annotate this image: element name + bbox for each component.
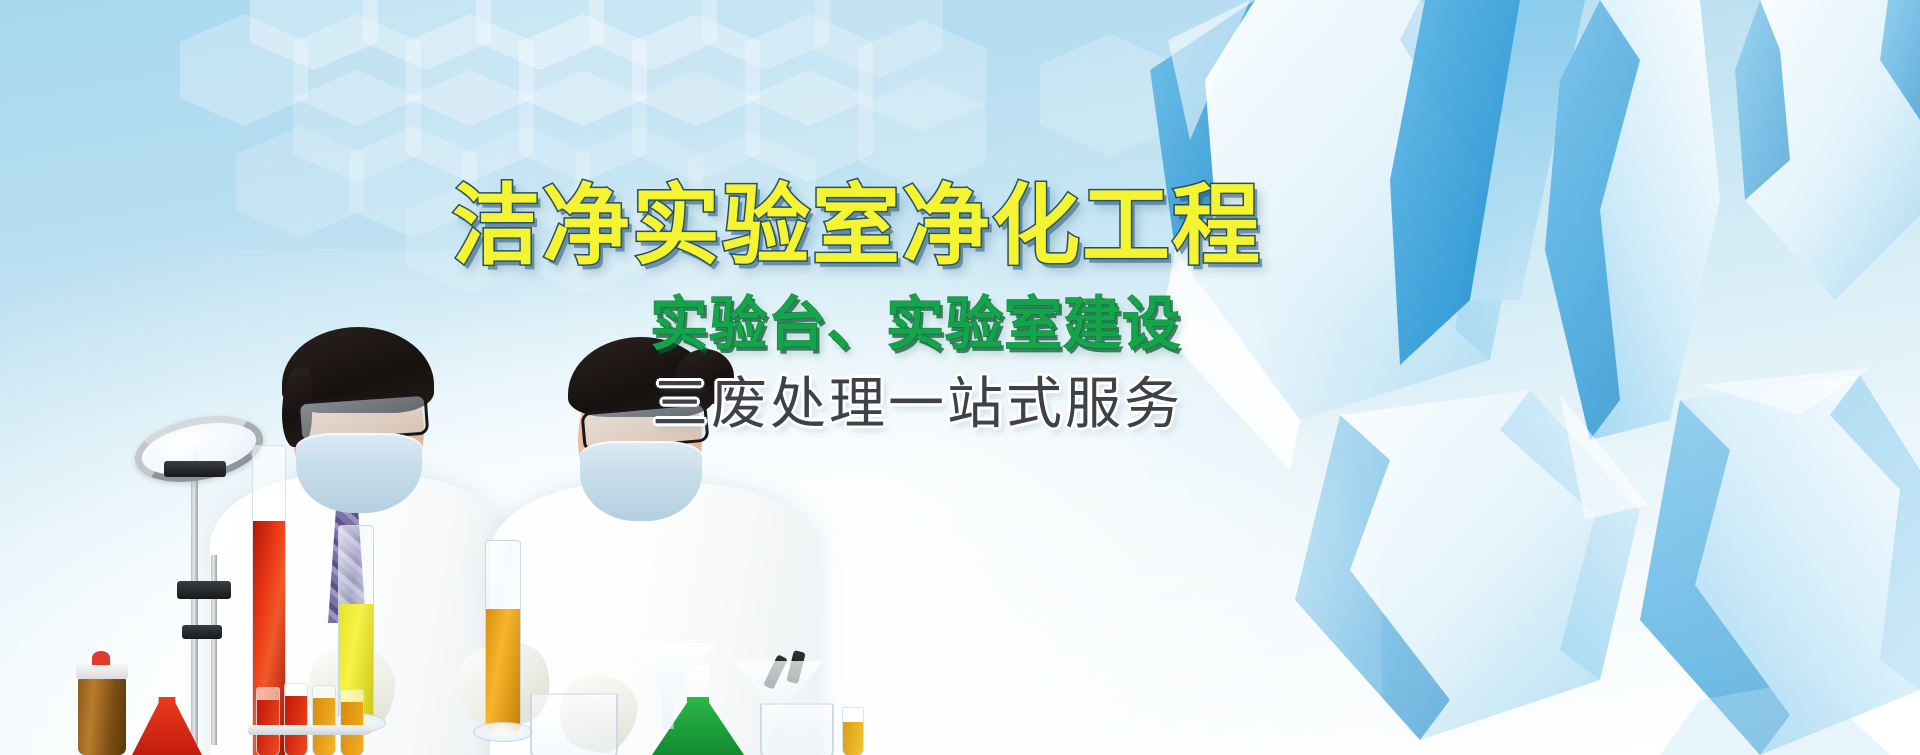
hexagon-tile: [462, 126, 590, 238]
magnifying-glass: [129, 406, 268, 492]
hexagon-tile: [519, 14, 647, 126]
bottle-cap-knob: [92, 651, 110, 665]
cylinder-liquid-amber: [486, 609, 520, 731]
amber-reagent-bottle: [78, 677, 126, 755]
test-tube-rack: [248, 725, 370, 735]
hexagon-tile: [575, 126, 703, 238]
hexagon-tile: [236, 126, 364, 238]
test-tube-liquid: [843, 722, 863, 755]
hexagon-tile: [180, 14, 308, 126]
test-tube-orange-2: [340, 689, 364, 755]
hexagon-tile: [519, 70, 647, 182]
hexagon-tile: [745, 70, 873, 182]
hexagon-tile: [745, 14, 873, 126]
hair-bun: [676, 349, 734, 405]
stand-clamp-lower: [182, 625, 222, 639]
test-tube-red-1: [256, 687, 280, 755]
hexagon-tile: [858, 78, 986, 190]
hexagon-tile: [815, 0, 943, 78]
lab-scientists-photo: [60, 325, 940, 755]
hexagon-tile: [250, 0, 378, 70]
graduated-cylinder-amber: [485, 540, 521, 732]
beaker-right: [760, 703, 834, 755]
hexagon-tile: [406, 70, 534, 182]
hexagon-tile: [293, 70, 421, 182]
hexagon-tile: [589, 0, 717, 70]
promo-banner: 洁净实验室净化工程 实验台、实验室建设 三废处理一站式服务: [0, 0, 1920, 755]
hexagon-tile: [632, 14, 760, 126]
hexagon-tile: [349, 126, 477, 238]
cylinder-base-amber: [473, 722, 533, 742]
hexagon-tile: [858, 20, 986, 132]
hexagon-tile: [632, 70, 760, 182]
magnifier-mount: [164, 461, 226, 477]
hexagon-tile: [406, 14, 534, 126]
test-tube-red-2: [284, 683, 308, 755]
hexagon-tile: [363, 0, 491, 70]
hexagon-tile: [293, 14, 421, 126]
hexagon-tile: [476, 0, 604, 70]
hexagon-tile: [1040, 34, 1180, 156]
hexagon-tile: [702, 0, 830, 70]
stand-clamp: [177, 581, 231, 599]
test-tube-orange-1: [312, 685, 336, 755]
test-tube-amber-right: [842, 707, 864, 755]
beaker-clear: [530, 693, 618, 755]
